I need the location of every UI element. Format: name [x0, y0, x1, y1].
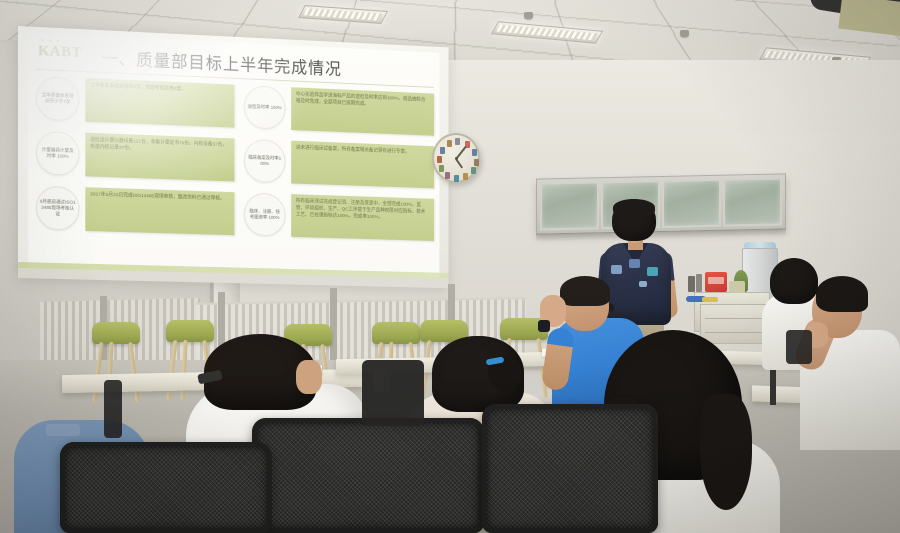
clock-tile — [439, 165, 444, 172]
person-hair — [560, 276, 610, 306]
person-hair-strand — [700, 394, 752, 510]
wall-cabinet-row — [536, 173, 786, 234]
slide-left-column: 全年质量体系培训不少于7次 上半年体系相关培训6次，完成考核试卷6套。 计量器具… — [34, 75, 236, 245]
office-chair-back[interactable] — [482, 404, 658, 533]
chair-frame — [252, 418, 484, 533]
person-hair — [770, 258, 818, 304]
red-box-item — [705, 272, 727, 292]
presenter-fringe — [613, 199, 655, 216]
clock-tile — [463, 173, 468, 180]
shirt-emblem — [611, 265, 622, 274]
office-chair-back[interactable] — [786, 330, 812, 364]
clock-tile — [455, 138, 460, 145]
sprinkler-head — [524, 12, 533, 19]
table-leg — [770, 365, 776, 405]
cardboard-box — [729, 281, 745, 293]
office-chair-back[interactable] — [362, 360, 424, 426]
goal-bubble: 临床备案及时率100% — [244, 139, 286, 183]
desk-cup — [696, 274, 702, 292]
clock-tile — [472, 149, 477, 156]
clock-hour-hand — [455, 158, 463, 168]
chair-frame — [482, 404, 658, 533]
meeting-room-photo: • • • KABT 一、质量部目标上半年完成情况 全年质量体系培训不少于7次 … — [0, 0, 900, 533]
clock-tile — [447, 140, 452, 147]
goal-bubble: 计量器具计量及时率 100% — [36, 131, 80, 176]
result-box: 2017年5月23日完成ISO13485现场审核，整改资料已通过审核。 — [85, 187, 234, 235]
chair-seat — [372, 322, 420, 344]
result-text: 上半年体系相关培训6次，完成考核试卷6套。 — [90, 82, 229, 95]
wall-clock — [432, 133, 480, 183]
person-hair — [816, 276, 868, 312]
clock-tile — [454, 175, 459, 182]
clock-center-pin — [455, 157, 458, 160]
slide-item: 6月底前通过ISO13485现场考核认证 2017年5月23日完成ISO1348… — [34, 185, 236, 238]
goal-text: 计量器具计量及时率 100% — [40, 146, 76, 160]
chair-support — [104, 380, 122, 438]
slide-right-column: 送检及时率 100% 中心化验样品学送海标产品的送检及时率达到100%，成品抽检… — [242, 84, 436, 251]
logo-text: KABT — [38, 43, 82, 61]
person-ear — [296, 360, 322, 394]
cabinet-door — [540, 181, 599, 230]
result-box: 送检送计量仪器设备121台，收集计量证书76份。内校设备37台，形成内校记录37… — [85, 133, 234, 182]
goal-bubble: 送检及时率 100% — [244, 85, 286, 130]
goal-bubble: 临床、注册、技考图进率 100% — [244, 193, 286, 237]
office-chair-back[interactable] — [252, 418, 484, 533]
result-text: 2017年5月23日完成ISO13485现场审核，整改资料已通过审核。 — [90, 191, 229, 203]
goal-text: 送检及时率 100% — [248, 104, 282, 112]
desk-cup — [688, 276, 695, 292]
wristwatch — [538, 320, 550, 332]
clock-tile — [471, 167, 476, 174]
clock-tile — [437, 156, 442, 163]
slide-item: 计量器具计量及时率 100% 送检送计量仪器设备121台，收集计量证书76份。内… — [34, 130, 236, 184]
chair-seat — [92, 322, 140, 344]
slide-item: 送检及时率 100% 中心化验样品学送海标产品的送检及时率达到100%，成品抽检… — [242, 84, 436, 138]
clock-tile — [445, 172, 450, 179]
sprinkler-head — [680, 30, 689, 37]
slide-item: 全年质量体系培训不少于7次 上半年体系相关培训6次，完成考核试卷6套。 — [34, 75, 236, 130]
cabinet-door — [723, 177, 782, 226]
chair-frame — [60, 442, 272, 533]
shirt-emblem — [629, 259, 640, 268]
shirt-emblem — [639, 281, 647, 287]
result-box: 中心化验样品学送海标产品的送检及时率达到100%，成品抽检合格及时完成，全部项目… — [291, 87, 434, 135]
yellow-item — [702, 297, 718, 302]
shirt-emblem — [647, 267, 658, 276]
presentation-slide: • • • KABT 一、质量部目标上半年完成情况 全年质量体系培训不少于7次 … — [28, 32, 439, 280]
goal-text: 6月底前通过ISO13485现场考核认证 — [40, 198, 76, 218]
goal-text: 全年质量体系培训不少于7次 — [40, 92, 76, 106]
goal-text: 临床、注册、技考图进率 100% — [248, 208, 282, 221]
result-text: 所有临床测试完成登记流、注册及变更中，全部完成100%。监管、环境组织、生产、Q… — [296, 198, 429, 223]
projection-screen: • • • KABT 一、质量部目标上半年完成情况 全年质量体系培训不少于7次 … — [18, 26, 449, 288]
cabinet-door — [662, 179, 721, 228]
goal-bubble: 6月底前通过ISO13485现场考核认证 — [36, 186, 80, 231]
clock-tile — [440, 147, 445, 154]
result-text: 送检送计量仪器设备121台，收集计量证书76份。内校设备37台，形成内校记录37… — [90, 137, 229, 156]
result-text: 中心化验样品学送海标产品的送检及时率达到100%，成品抽检合格及时完成，全部项目… — [296, 91, 429, 111]
logo-dots: • • • — [42, 38, 61, 45]
chair-seat — [166, 320, 214, 342]
goal-text: 临床备案及时率100% — [248, 154, 282, 168]
slide-item: 临床、注册、技考图进率 100% 所有临床测试完成登记流、注册及变更中，全部完成… — [242, 191, 436, 242]
shirt-pocket — [46, 424, 80, 436]
company-logo: • • • KABT — [38, 43, 82, 62]
slide-item: 临床备案及时率100% 进未进行临床试备案，所有备案相关备记录有进行专案。 — [242, 138, 436, 191]
office-chair-back[interactable] — [60, 442, 272, 533]
result-text: 进未进行临床试备案，所有备案相关备记录有进行专案。 — [296, 145, 429, 157]
result-box: 所有临床测试完成登记流、注册及变更中，全部完成100%。监管、环境组织、生产、Q… — [291, 194, 434, 241]
goal-bubble: 全年质量体系培训不少于7次 — [36, 76, 80, 122]
result-box: 上半年体系相关培训6次，完成考核试卷6套。 — [85, 78, 234, 128]
result-box: 进未进行临床试备案，所有备案相关备记录有进行专案。 — [291, 141, 434, 189]
clock-tile — [474, 159, 479, 166]
